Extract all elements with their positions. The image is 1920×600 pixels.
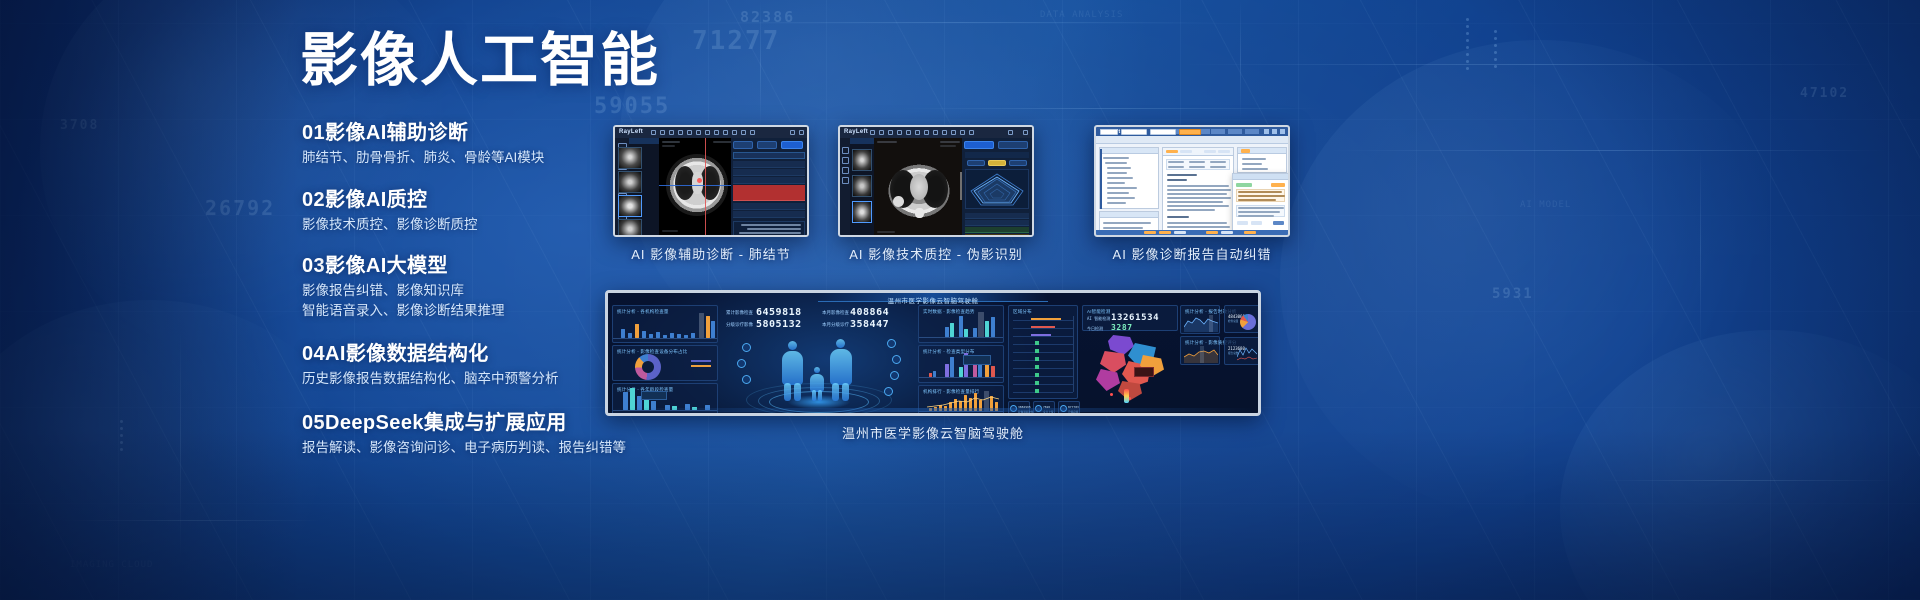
artifact-marker (893, 196, 904, 207)
kpi-label-2: 分级诊疗影像 (726, 322, 753, 328)
viewer-logo: RayLeft (619, 129, 643, 135)
dashboard-card-quality-score[interactable]: 统计分析 - 影像质控评分 (1180, 336, 1220, 365)
feature-heading-05: 05DeepSeek集成与扩展应用 (302, 406, 626, 435)
dashboard-card-device-share[interactable]: 统计分析 - 影像检查设备分布占比 (612, 345, 718, 381)
dashboard-card-ai-detect[interactable]: AI智能检测 AI 智能检测 13261534 今日检测 3287 (1082, 305, 1178, 331)
dashboard-mini-card-0[interactable]: 4843060 检查总量 (1224, 305, 1260, 333)
dashboard-kpi-block: 累计影像检查 6459818 本月影像检查 408864 分级诊疗影像 5805… (726, 305, 912, 331)
report-text-pane[interactable] (1162, 147, 1234, 234)
caption-lung-nodule: AI 影像辅助诊断 - 肺结节 (613, 244, 809, 263)
feature-item-01: 01影像AI辅助诊断 肺结节、肋骨骨折、肺炎、骨龄等AI模块 (302, 116, 544, 168)
timeliness-area-chart (1184, 315, 1218, 332)
viewer-axial-image[interactable] (659, 138, 735, 237)
dashboard-card-check-trend[interactable]: 实时数据 - 影像检查趋势 (918, 305, 1004, 343)
dashboard-card-report-timeliness[interactable]: 统计分析 - 报告时效分析 (1180, 305, 1220, 334)
viewer-logo: RayLeft (844, 129, 868, 135)
feature-heading-02: 02影像AI质控 (302, 183, 478, 212)
feature-heading-01: 01影像AI辅助诊断 (302, 116, 544, 145)
banner-root: 82386 71277 59055 26792 5931 47102 3708 … (0, 0, 1920, 600)
feature-heading-04: 04AI影像数据结构化 (302, 337, 559, 366)
feature-heading-03: 03影像AI大模型 (302, 249, 505, 278)
hologram-icon-0[interactable] (742, 343, 751, 352)
screenshot-report-correction[interactable]: RayLeft (1094, 125, 1290, 237)
screenshot-frame: RayLeft (1094, 125, 1290, 237)
viewer-highlighted-finding[interactable] (733, 185, 805, 201)
screenshot-frame: RayLeft (838, 125, 1034, 237)
screenshot-lung-nodule[interactable]: RayLeft (613, 125, 809, 237)
feature-item-04: 04AI影像数据结构化 历史影像报告数据结构化、脑卒中预警分析 (302, 337, 559, 389)
caption-artifact-qc: AI 影像技术质控 - 伪影识别 (838, 244, 1034, 263)
screenshot-artifact-qc[interactable]: RayLeft (838, 125, 1034, 237)
feature-item-05: 05DeepSeek集成与扩展应用 报告解读、影像咨询问诊、电子病历判读、报告纠… (302, 406, 626, 458)
feature-subtext-03: 影像报告纠错、影像知识库智能语音录入、影像诊断结果推理 (302, 281, 505, 320)
kpi-value-1: 408864 (850, 307, 889, 318)
dashboard-card-type-dist[interactable]: 统计分析 - 检查类型分布 (918, 345, 1004, 383)
screenshot-dashboard[interactable]: 温州市医学影像云智脑驾驶舱 统计分析 - 各机构检查量 (605, 290, 1261, 416)
active-tab[interactable] (1179, 129, 1201, 135)
dashboard-frame: 温州市医学影像云智脑驾驶舱 统计分析 - 各机构检查量 (605, 290, 1261, 416)
ai-kpi-value-1: 3287 (1111, 323, 1133, 332)
feature-item-02: 02影像AI质控 影像技术质控、影像诊断质控 (302, 183, 478, 235)
caption-dashboard: 温州市医学影像云智脑驾驶舱 (605, 423, 1261, 442)
viewer-toolbar (615, 127, 807, 138)
screenshot-frame: RayLeft (613, 125, 809, 237)
ai-kpi-label-1: 今日检测 (1087, 326, 1103, 332)
hologram-icon-1[interactable] (737, 359, 746, 368)
viewer-axial-image[interactable] (874, 138, 964, 237)
window-statusbar (1096, 230, 1288, 235)
feature-subtext-02: 影像技术质控、影像诊断质控 (302, 215, 478, 235)
kpi-label-0: 累计影像检查 (726, 310, 753, 316)
hologram-icon-5[interactable] (890, 371, 899, 380)
feature-item-03: 03影像AI大模型 影像报告纠错、影像知识库智能语音录入、影像诊断结果推理 (302, 249, 505, 320)
kpi-value-0: 6459818 (756, 307, 802, 318)
mini-line-3 (1237, 346, 1257, 362)
hologram-icon-2[interactable] (742, 375, 751, 384)
caption-report-correction: AI 影像诊断报告自动纠错 (1094, 244, 1290, 263)
hologram-icon-3[interactable] (887, 339, 896, 348)
dashboard-card-agency-volume[interactable]: 统计分析 - 各机构检查量 (612, 305, 718, 343)
hologram-family-visual (736, 329, 902, 415)
kpi-label-1: 本月影像检查 (822, 310, 849, 316)
feature-subtext-05: 报告解读、影像咨询问诊、电子病历判读、报告纠错等 (302, 438, 626, 458)
text-column: 影像人工智能 (300, 32, 720, 90)
hologram-icon-6[interactable] (884, 387, 893, 396)
dashboard-mini-card-3[interactable]: 2123680 报告总数 (1224, 337, 1260, 365)
kpi-label-3: 本月分级诊疗 (822, 322, 849, 328)
mini-pie-0 (1240, 314, 1256, 330)
feature-subtext-04: 历史影像报告数据结构化、脑卒中预警分析 (302, 369, 559, 389)
dashboard-statusbar (610, 408, 1256, 412)
quality-area-chart (1184, 346, 1218, 363)
dashboard-header-title: 温州市医学影像云智脑驾驶舱 (888, 295, 979, 305)
report-tree-pane[interactable] (1099, 147, 1159, 209)
hologram-icon-4[interactable] (892, 355, 901, 364)
ai-correction-panel[interactable] (1232, 173, 1289, 231)
ai-kpi-label-0: AI 智能检测 (1087, 316, 1110, 322)
window-tabbar[interactable] (1096, 136, 1288, 144)
page-title: 影像人工智能 (300, 32, 720, 90)
report-side-pane[interactable] (1237, 147, 1287, 173)
mini-kpi-label-0: 检查总量 (1228, 319, 1238, 323)
dashboard-region-map[interactable] (1078, 333, 1174, 407)
radar-chart (968, 172, 1026, 207)
ai-kpi-value-0: 13261534 (1111, 313, 1159, 323)
feature-subtext-01: 肺结节、肋骨骨折、肺炎、骨龄等AI模块 (302, 148, 544, 168)
dashboard-card-ranking[interactable]: 区域分布 (1008, 305, 1078, 399)
